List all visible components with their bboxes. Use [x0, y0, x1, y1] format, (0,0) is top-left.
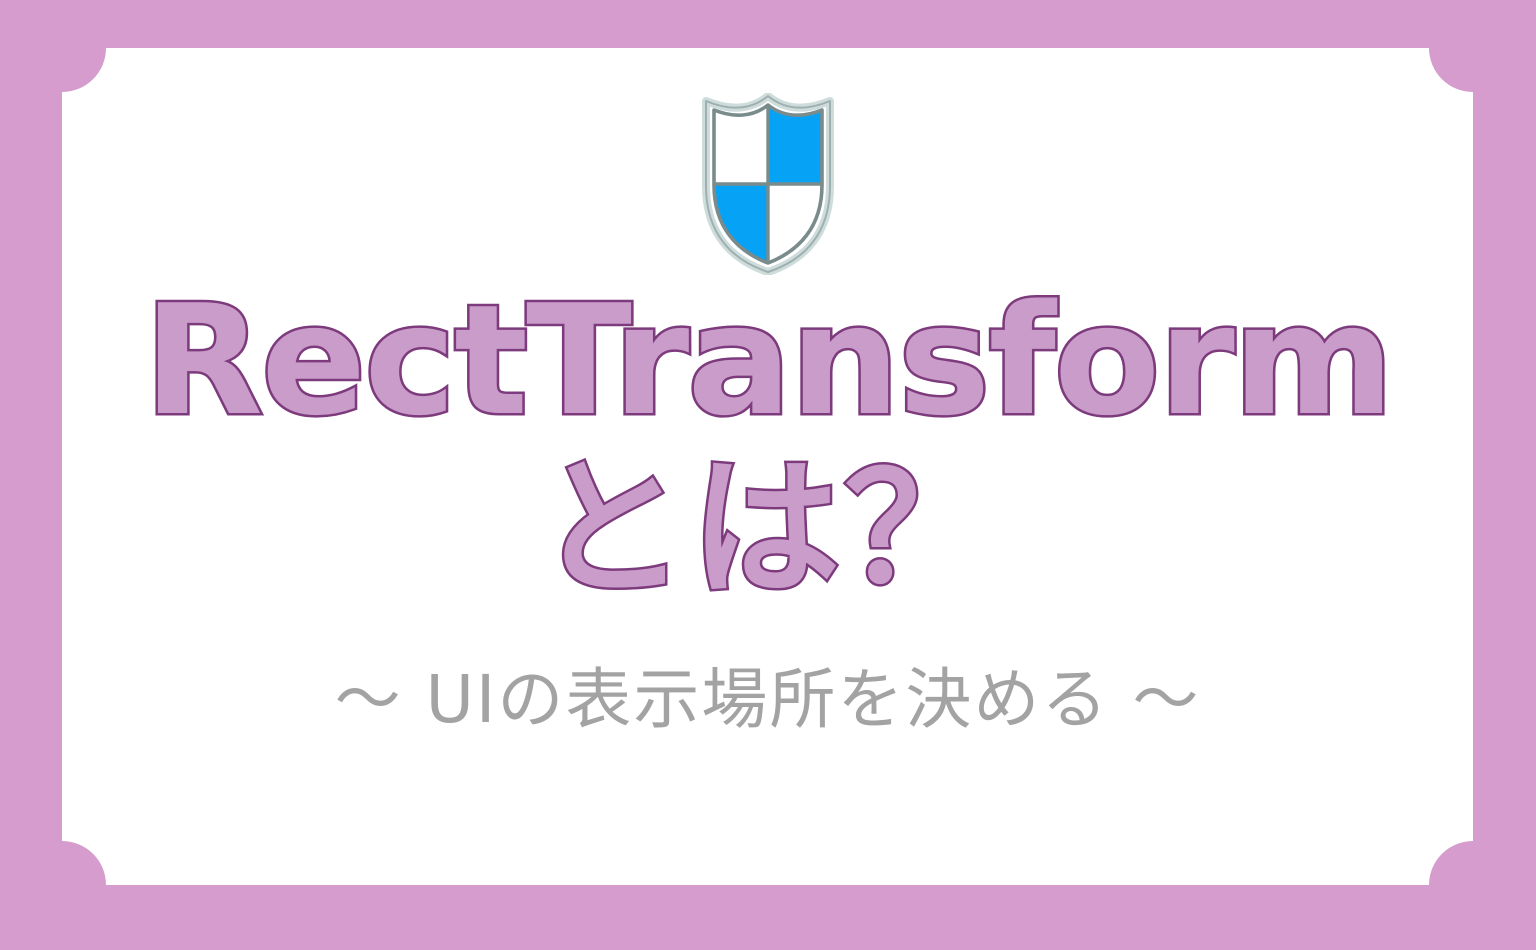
page-title: RectTransform とは？	[156, 285, 1380, 605]
title-card: RectTransform とは？ 〜 UIの表示場所を決める 〜	[62, 48, 1473, 885]
thumbnail-canvas: RectTransform とは？ 〜 UIの表示場所を決める 〜	[0, 0, 1536, 950]
title-line-primary: RectTransform	[143, 285, 1391, 437]
shield-icon	[701, 93, 835, 275]
card-content: RectTransform とは？ 〜 UIの表示場所を決める 〜	[62, 48, 1473, 885]
title-line-secondary: とは？	[156, 455, 1380, 605]
subtitle: 〜 UIの表示場所を決める 〜	[335, 667, 1201, 733]
